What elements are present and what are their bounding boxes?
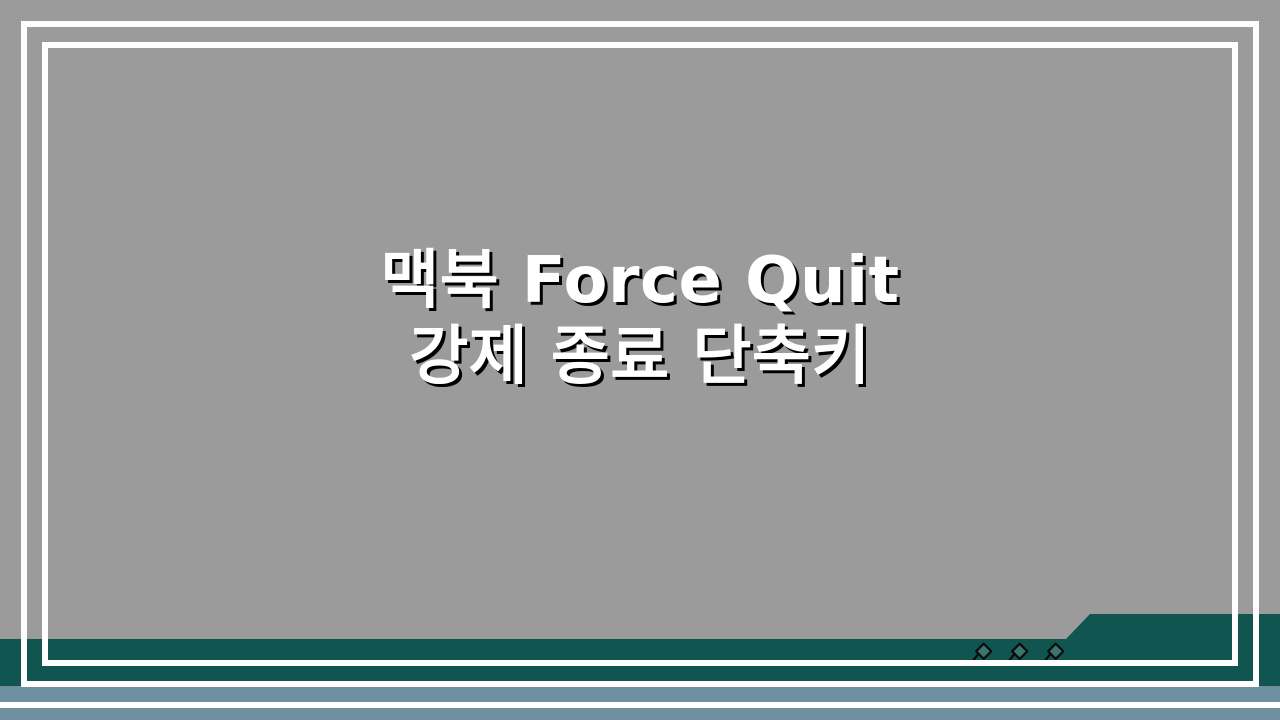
pushpin-icon xyxy=(1004,641,1030,667)
page-title: 맥북 Force Quit 강제 종료 단축키 xyxy=(380,244,900,395)
pushpin-group xyxy=(968,641,1066,667)
pushpin-icon xyxy=(1040,641,1066,667)
pushpin-icon xyxy=(968,641,994,667)
footer-white-line-bottom xyxy=(0,702,1280,708)
title-area: 맥북 Force Quit 강제 종료 단축키 xyxy=(0,0,1280,640)
thumbnail-canvas: 맥북 Force Quit 강제 종료 단축키 xyxy=(0,0,1280,720)
